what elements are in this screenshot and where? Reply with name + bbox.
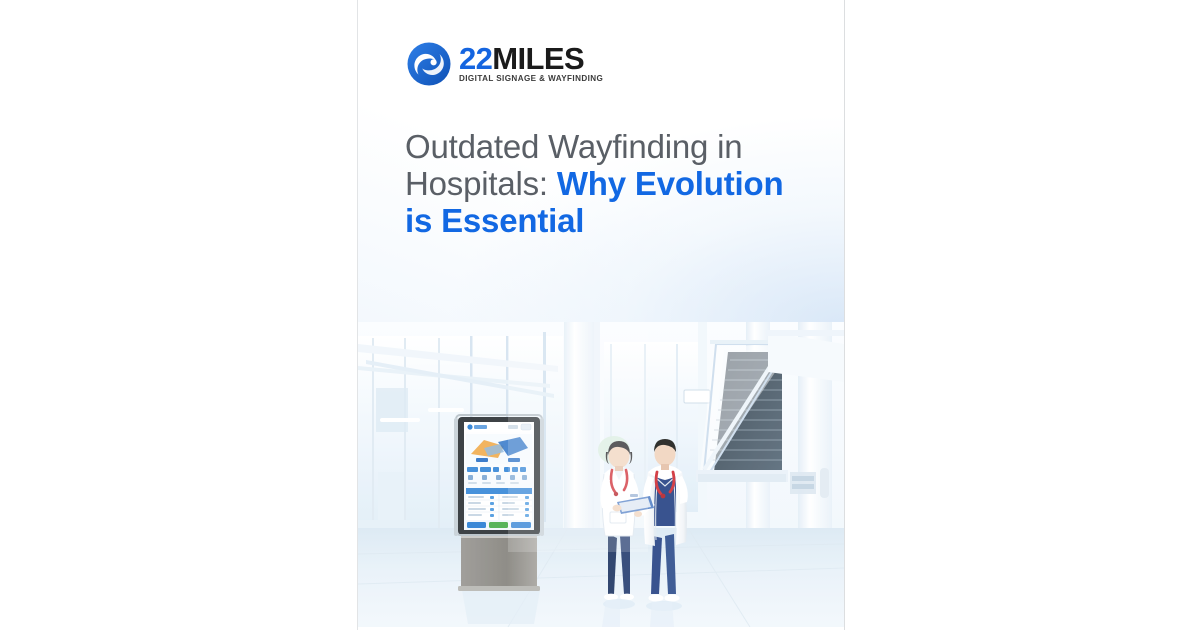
headline-line-3-accent: is Essential	[405, 202, 584, 239]
cover-photo	[358, 322, 844, 627]
logo-title-miles: MILES	[492, 41, 584, 76]
page-title: Outdated Wayfinding in Hospitals: Why Ev…	[405, 128, 825, 239]
headline-line-2-plain: Hospitals:	[405, 165, 557, 202]
logo-title-22: 22	[459, 41, 492, 76]
document-page: 22MILES DIGITAL SIGNAGE & WAYFINDING 22M…	[357, 0, 845, 630]
screenshot-canvas: 22MILES DIGITAL SIGNAGE & WAYFINDING 22M…	[0, 0, 1200, 630]
22miles-swirl-icon	[406, 41, 452, 87]
logo-tagline: DIGITAL SIGNAGE & WAYFINDING	[459, 74, 603, 84]
headline-line-2-accent: Why Evolution	[557, 165, 784, 202]
logo-title: 22MILES	[459, 44, 603, 73]
brand-logo: 22MILES DIGITAL SIGNAGE & WAYFINDING	[406, 40, 603, 87]
logo-wordmark: 22MILES DIGITAL SIGNAGE & WAYFINDING	[459, 40, 603, 84]
headline-line-1: Outdated Wayfinding in	[405, 128, 742, 165]
